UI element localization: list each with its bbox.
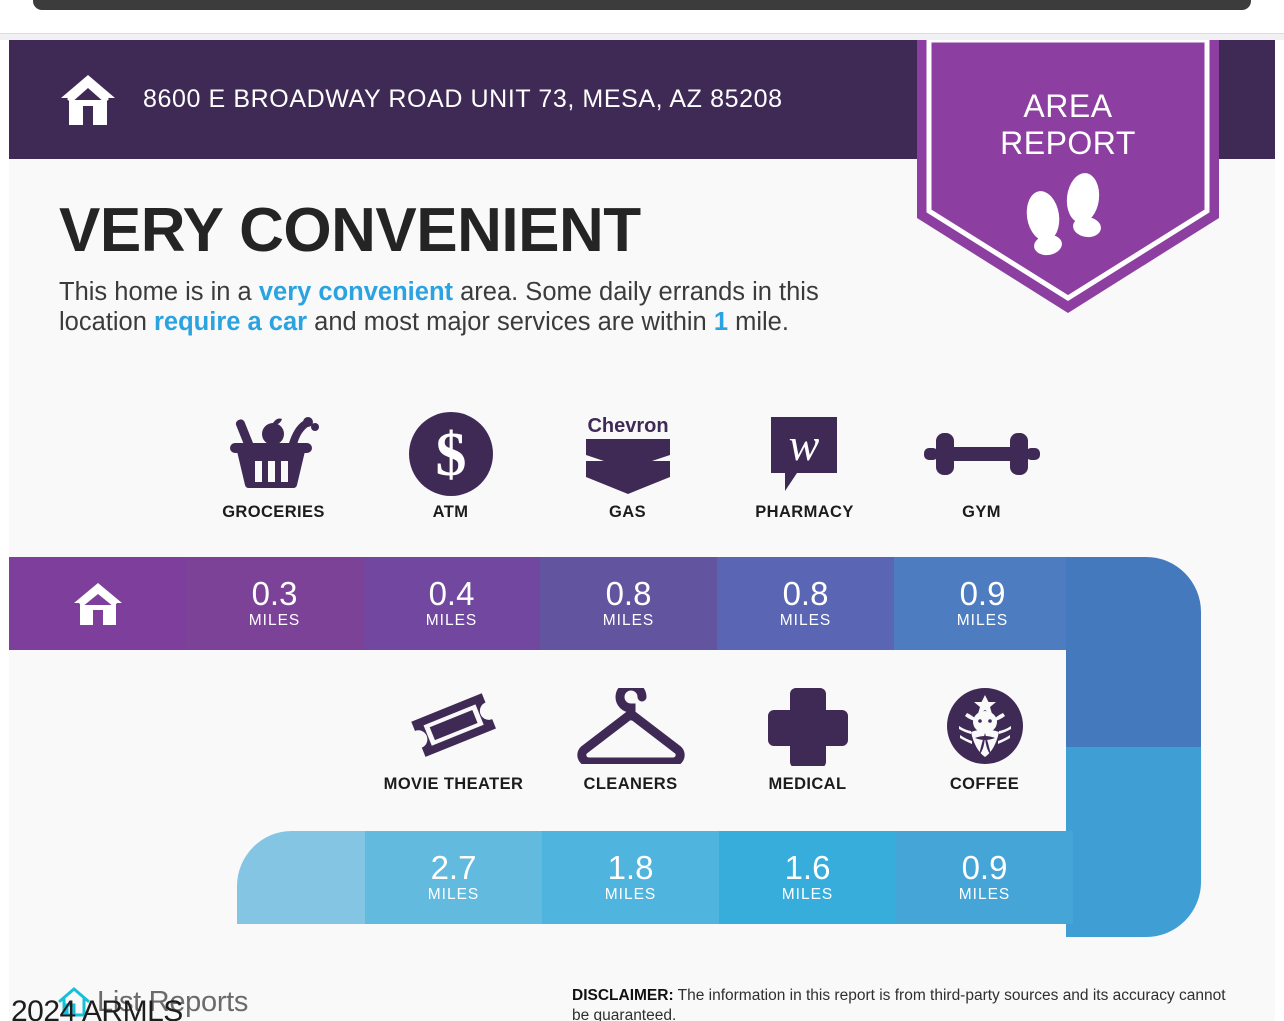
bar-connector-right: [1066, 557, 1201, 942]
distance-unit: MILES: [249, 612, 301, 630]
amenity-gym: GYM: [893, 415, 1070, 522]
distance-value: 1.8: [608, 851, 654, 885]
amenity-gas: Chevron GAS: [539, 415, 716, 522]
distance-cell-coffee: 0.9 MILES: [896, 831, 1073, 924]
disclaimer-text: DISCLAIMER: The information in this repo…: [572, 986, 1232, 1021]
distance-value: 0.9: [962, 851, 1008, 885]
distance-unit: MILES: [603, 612, 655, 630]
distance-value: 2.7: [431, 851, 477, 885]
amenity-label: PHARMACY: [755, 503, 854, 522]
walgreens-w-icon: w: [767, 415, 843, 493]
home-icon: [72, 581, 124, 627]
amenity-label: GAS: [609, 503, 646, 522]
amenity-label: MOVIE THEATER: [384, 775, 524, 794]
mls-watermark: 2024 ARMLS: [11, 995, 183, 1021]
amenity-movie-theater: MOVIE THEATER: [365, 687, 542, 794]
sentence-part-3: and most major services are within: [307, 308, 714, 336]
bar-connector-left: [237, 831, 367, 929]
dumbbell-icon: [924, 415, 1040, 493]
amenity-groceries: GROCERIES: [185, 415, 362, 522]
highlight-miles: 1: [714, 308, 728, 336]
sentence-part-1: This home is in a: [59, 278, 259, 306]
medical-cross-icon: [768, 687, 848, 765]
distance-unit: MILES: [782, 886, 834, 904]
distance-value: 0.9: [960, 577, 1006, 611]
distance-value: 0.8: [783, 577, 829, 611]
amenity-label: GYM: [962, 503, 1001, 522]
distance-unit: MILES: [428, 886, 480, 904]
amenity-pharmacy: w PHARMACY: [716, 415, 893, 522]
distance-cell-gas: 0.8 MILES: [540, 557, 717, 650]
distance-unit: MILES: [605, 886, 657, 904]
distance-cell-movie-theater: 2.7 MILES: [365, 831, 542, 924]
page-title: VERY CONVENIENT: [59, 195, 641, 266]
property-address: 8600 E BROADWAY ROAD UNIT 73, MESA, AZ 8…: [143, 85, 783, 114]
chrome-tab-strip[interactable]: [33, 0, 1251, 10]
clothes-hanger-icon: [576, 687, 686, 765]
distance-value: 1.6: [785, 851, 831, 885]
svg-text:Chevron: Chevron: [587, 415, 668, 437]
home-icon: [59, 73, 117, 127]
area-report-page: 8600 E BROADWAY ROAD UNIT 73, MESA, AZ 8…: [0, 40, 1284, 1021]
sentence-part-4: mile.: [728, 308, 789, 336]
amenity-icon-row-2: MOVIE THEATER CLEANERS MEDICAL: [365, 687, 1073, 794]
starbucks-siren-icon: [945, 687, 1025, 765]
highlight-require-a-car: require a car: [154, 308, 307, 336]
distance-bar-row-1: 0.3 MILES 0.4 MILES 0.8 MILES 0.8 MILES …: [9, 557, 1071, 650]
distance-unit: MILES: [780, 612, 832, 630]
svg-text:$: $: [435, 421, 466, 489]
chevron-logo-icon: Chevron: [582, 415, 674, 493]
amenity-label: GROCERIES: [222, 503, 325, 522]
amenity-label: ATM: [433, 503, 469, 522]
disclaimer-label: DISCLAIMER:: [572, 987, 674, 1004]
distance-bar-row-2: 2.7 MILES 1.8 MILES 1.6 MILES 0.9 MILES: [365, 831, 1073, 924]
grocery-basket-icon: [226, 415, 322, 493]
distance-value: 0.8: [606, 577, 652, 611]
distance-cell-groceries: 0.3 MILES: [186, 557, 363, 650]
distance-unit: MILES: [957, 612, 1009, 630]
distance-cell-atm: 0.4 MILES: [363, 557, 540, 650]
distance-cell-cleaners: 1.8 MILES: [542, 831, 719, 924]
svg-text:w: w: [788, 419, 819, 470]
movie-ticket-icon: [410, 687, 498, 765]
amenity-label: MEDICAL: [769, 775, 847, 794]
amenity-atm: $ ATM: [362, 415, 539, 522]
area-report-badge: AREA REPORT: [917, 40, 1219, 313]
distance-unit: MILES: [959, 886, 1011, 904]
distance-cell-medical: 1.6 MILES: [719, 831, 896, 924]
distance-value: 0.4: [429, 577, 475, 611]
highlight-very-convenient: very convenient: [259, 278, 453, 306]
amenity-cleaners: CLEANERS: [542, 687, 719, 794]
dollar-circle-icon: $: [409, 415, 493, 493]
summary-sentence: This home is in a very convenient area. …: [59, 277, 904, 337]
distance-value: 0.3: [252, 577, 298, 611]
amenity-label: COFFEE: [950, 775, 1019, 794]
amenity-medical: MEDICAL: [719, 687, 896, 794]
distance-cell-gym: 0.9 MILES: [894, 557, 1071, 650]
distance-cell-pharmacy: 0.8 MILES: [717, 557, 894, 650]
browser-chrome: [0, 0, 1284, 38]
amenity-label: CLEANERS: [584, 775, 678, 794]
home-marker-cell: [9, 557, 186, 650]
distance-unit: MILES: [426, 612, 478, 630]
amenity-coffee: COFFEE: [896, 687, 1073, 794]
amenity-icon-row-1: GROCERIES $ ATM Chevron GAS: [185, 415, 1070, 522]
